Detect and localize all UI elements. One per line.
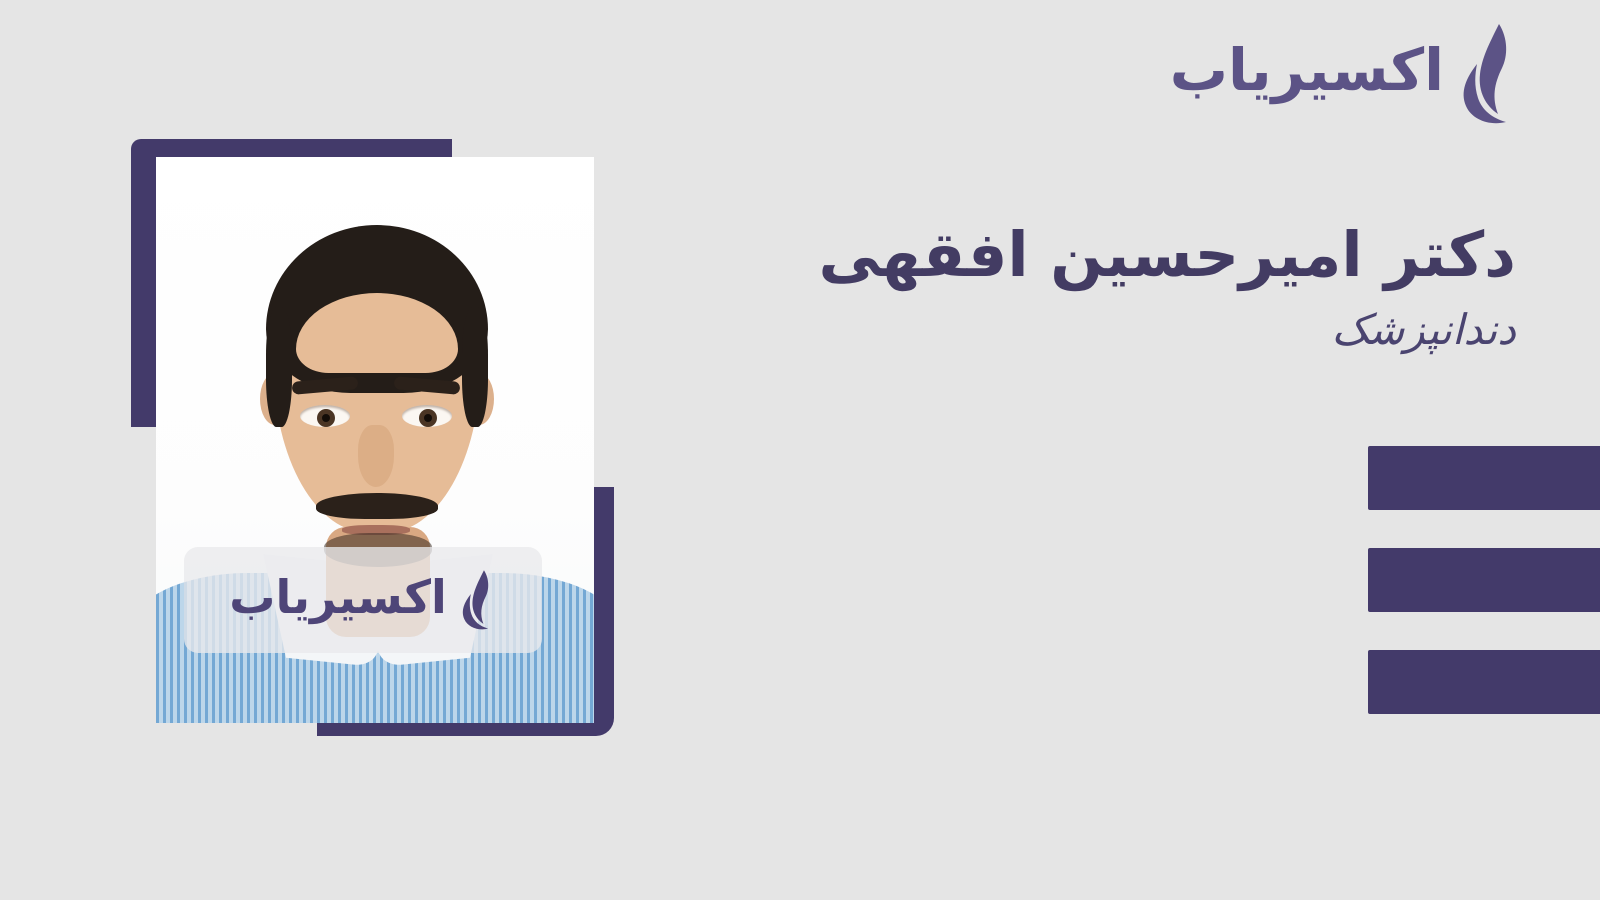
doctor-info: دکتر امیرحسین افقهی دندانپزشک: [756, 218, 1516, 356]
photo-watermark: اکسیریاب: [184, 547, 542, 653]
portrait-pupil-right: [424, 414, 432, 422]
watermark-text: اکسیریاب: [229, 574, 447, 626]
watermark-flame-drop-icon: [459, 569, 497, 631]
doctor-photo: اکسیریاب: [156, 157, 594, 723]
decor-bar-1: [1368, 446, 1600, 510]
photo-composition: اکسیریاب: [0, 0, 660, 780]
portrait-mustache: [316, 493, 438, 519]
portrait-hair-side-right: [462, 307, 488, 427]
decor-bar-2: [1368, 548, 1600, 612]
brand-logo[interactable]: اکسیریاب: [1170, 22, 1520, 126]
portrait-pupil-left: [322, 414, 330, 422]
poster-canvas: اکسیریاب: [0, 0, 1600, 900]
brand-name: اکسیریاب: [1170, 41, 1444, 107]
portrait-nose: [358, 425, 394, 487]
doctor-specialty: دندانپزشک: [756, 305, 1516, 355]
decor-bar-3: [1368, 650, 1600, 714]
doctor-name: دکتر امیرحسین افقهی: [756, 218, 1516, 291]
portrait-hair-side-left: [266, 307, 292, 427]
flame-drop-icon: [1458, 22, 1520, 126]
decor-bars: [1366, 446, 1600, 714]
